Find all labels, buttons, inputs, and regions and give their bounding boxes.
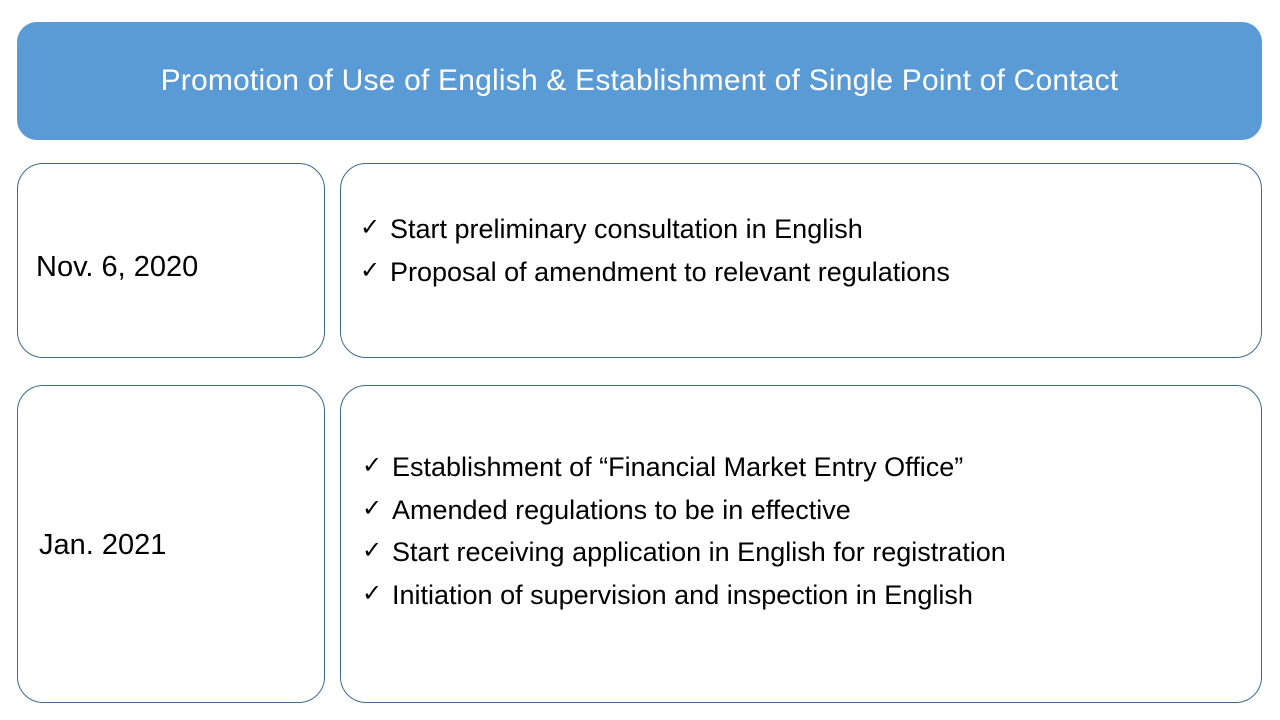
slide-header-banner: Promotion of Use of English & Establishm… [17, 22, 1262, 140]
check-icon: ✓ [362, 446, 392, 486]
list-item-label: Start receiving application in English f… [392, 531, 1006, 574]
bullet-list-row-2: ✓ Establishment of “Financial Market Ent… [341, 446, 1261, 617]
content-card-row-2: ✓ Establishment of “Financial Market Ent… [340, 385, 1262, 703]
list-item-label: Amended regulations to be in effective [392, 489, 851, 532]
date-card-row-2: Jan. 2021 [17, 385, 325, 703]
list-item: ✓ Amended regulations to be in effective [362, 489, 1261, 532]
content-card-row-1: ✓ Start preliminary consultation in Engl… [340, 163, 1262, 358]
check-icon: ✓ [360, 208, 390, 248]
check-icon: ✓ [362, 489, 392, 529]
list-item-label: Establishment of “Financial Market Entry… [392, 446, 963, 489]
list-item-label: Proposal of amendment to relevant regula… [390, 251, 950, 294]
page-title: Promotion of Use of English & Establishm… [161, 63, 1119, 99]
list-item-label: Initiation of supervision and inspection… [392, 574, 973, 617]
check-icon: ✓ [362, 574, 392, 614]
bullet-list-row-1: ✓ Start preliminary consultation in Engl… [341, 208, 1261, 293]
date-card-row-1: Nov. 6, 2020 [17, 163, 325, 358]
date-label-row-2: Jan. 2021 [18, 528, 166, 563]
list-item: ✓ Start preliminary consultation in Engl… [360, 208, 1261, 251]
list-item-label: Start preliminary consultation in Englis… [390, 208, 863, 251]
slide-canvas: Promotion of Use of English & Establishm… [0, 0, 1280, 720]
check-icon: ✓ [362, 531, 392, 571]
list-item: ✓ Start receiving application in English… [362, 531, 1261, 574]
list-item: ✓ Initiation of supervision and inspecti… [362, 574, 1261, 617]
date-label-row-1: Nov. 6, 2020 [18, 250, 198, 285]
list-item: ✓ Establishment of “Financial Market Ent… [362, 446, 1261, 489]
check-icon: ✓ [360, 251, 390, 291]
list-item: ✓ Proposal of amendment to relevant regu… [360, 251, 1261, 294]
